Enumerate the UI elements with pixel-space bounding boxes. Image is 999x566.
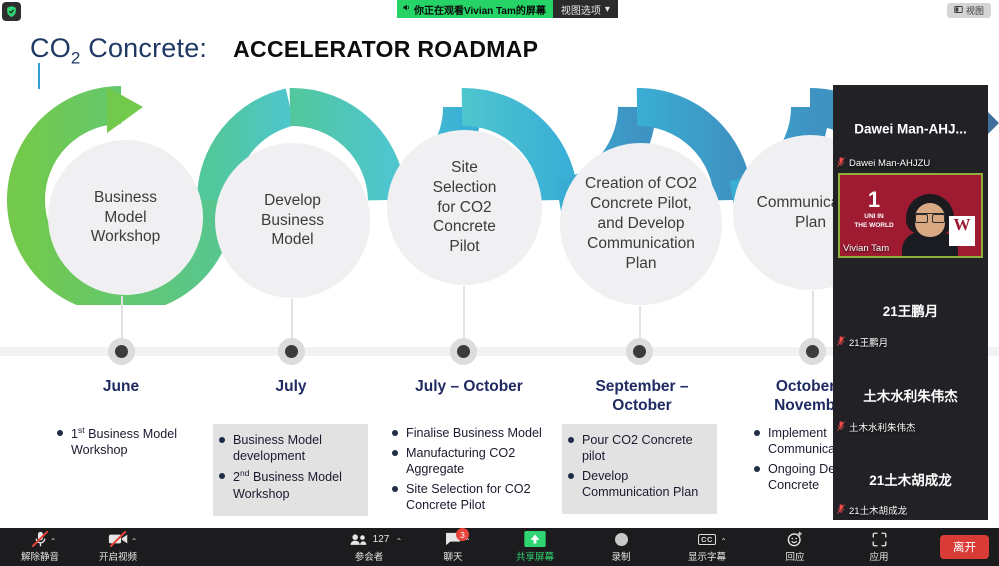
list-item: Manufacturing CO2 Aggregate [390,445,542,477]
view-layout-button[interactable]: 视图 [947,3,991,18]
screen-sharing-indicator: 你正在观看Vivian Tam的屏幕 视图选项 ▾ [397,0,618,18]
participant-tile-3[interactable]: 21王鹏月 21王鹏月 [833,267,988,352]
list-item: Site Selection for CO2 Concrete Pilot [390,481,542,513]
toolbar-start-video-label: 开启视频 [99,549,137,563]
toolbar-reactions-label: 回应 [785,549,804,563]
participant-tile-3-name: 21王鹏月 [833,300,988,320]
sharing-banner: 你正在观看Vivian Tam的屏幕 [397,0,553,18]
list-item: 1st Business Model Workshop [55,425,207,458]
participant-tile-5[interactable]: 21土木胡成龙 21土木胡成龙 [833,437,988,520]
captions-caret-icon[interactable]: ⌃ [720,537,727,546]
toolbar-chat-button[interactable]: 3 ⌃ 聊天 [427,528,479,566]
timeline-dot-2 [278,338,305,365]
toolbar-record-label: 录制 [611,549,630,563]
reactions-icon [787,531,803,547]
participant-tile-1-name: Dawei Man-AHJ... [833,122,988,137]
roadmap-node-4: Creation of CO2 Concrete Pilot, and Deve… [560,143,722,305]
list-item: Finalise Business Model [390,425,542,441]
node-stem-3 [463,286,465,342]
uni-ranking-badge: 1 UNI IN THE WORLD [848,189,900,230]
node-stem-4 [639,306,641,342]
participants-icon: 127 ⌃ [349,531,390,547]
participants-count: 127 [373,534,390,545]
mic-options-caret-icon[interactable]: ⌃ [50,537,57,546]
participant-tile-1[interactable]: Dawei Man-AHJ... Dawei Man-AHJZU [833,85,988,173]
participant-tile-4-namebar: 土木水利朱伟杰 [837,420,916,434]
view-options-label: 视图选项 [561,2,601,17]
toolbar-share-screen-button[interactable]: 共享屏幕 [509,528,561,566]
list-item: Develop Communication Plan [566,468,711,500]
toolbar-reactions-button[interactable]: 回应 [769,528,821,566]
timeline-dot-5 [799,338,826,365]
node-stem-2 [291,299,293,342]
list-item: 2nd Business Model Workshop [217,468,362,501]
participant-tile-4-name: 土木水利朱伟杰 [833,385,988,405]
bullet-column-1: 1st Business Model Workshop [55,425,207,462]
bullet-column-2: Business Model development 2nd Business … [213,424,368,516]
roadmap-node-4-label: Creation of CO2 Concrete Pilot, and Deve… [577,174,705,273]
node-stem-1 [121,296,123,342]
bullet-column-3: Finalise Business Model Manufacturing CO… [390,425,542,518]
timeline-date-3: July – October [379,377,559,396]
participant-tile-5-namebar: 21土木胡成龙 [837,503,907,517]
participants-caret-icon[interactable]: ⌃ [396,537,403,546]
active-speaker-name: Vivian Tam [843,243,889,254]
timeline-date-1: June [31,377,211,396]
mic-off-icon [837,157,845,170]
record-icon [615,531,628,547]
roadmap-node-3-label: Site Selection for CO2 Concrete Pilot [425,158,505,257]
title-main-label: ACCELERATOR ROADMAP [233,36,538,62]
chat-caret-icon[interactable]: ⌃ [464,537,471,546]
collapse-filmstrip-arrow-icon[interactable] [988,112,999,134]
participant-tile-4[interactable]: 土木水利朱伟杰 土木水利朱伟杰 [833,352,988,437]
video-options-caret-icon[interactable]: ⌃ [131,537,138,546]
toolbar-participants-button[interactable]: 127 ⌃ 参会者 [343,528,395,566]
toolbar-record-button[interactable]: 录制 [595,528,647,566]
toolbar-participants-label: 参会者 [355,549,384,563]
roadmap-node-2: Develop Business Model [215,143,370,298]
roadmap-node-3: Site Selection for CO2 Concrete Pilot [387,130,542,285]
toolbar-captions-label: 显示字幕 [688,549,726,563]
participant-tile-1-namebar: Dawei Man-AHJZU [837,157,930,170]
list-item: Pour CO2 Concrete pilot [566,432,711,464]
list-item: Business Model development [217,432,362,464]
mic-off-icon [837,336,845,349]
title-co2-label: CO2 Concrete: [30,33,207,63]
toolbar-unmute-button[interactable]: ⌃ 解除静音 [14,528,66,566]
encryption-shield-icon[interactable] [2,2,21,21]
meeting-toolbar: ⌃ 解除静音 ⌃ 开启视频 127 ⌃ 参会者 3 ⌃ [0,528,999,566]
speaker-icon [402,3,411,15]
toolbar-share-screen-label: 共享屏幕 [516,549,554,563]
bullet-column-4: Pour CO2 Concrete pilot Develop Communic… [562,424,717,514]
rank-line-2: THE WORLD [848,222,900,229]
node-stem-5 [812,291,814,342]
toolbar-unmute-label: 解除静音 [21,549,59,563]
toolbar-captions-button[interactable]: CC ⌃ 显示字幕 [681,528,733,566]
view-options-button[interactable]: 视图选项 ▾ [553,0,618,18]
captions-icon: CC ⌃ [698,531,716,547]
rank-number: 1 [848,189,900,211]
chat-icon: 3 ⌃ [444,531,462,547]
toolbar-start-video-button[interactable]: ⌃ 开启视频 [92,528,144,566]
participant-filmstrip[interactable]: Dawei Man-AHJ... Dawei Man-AHJZU 21王鹏月 2… [833,85,988,520]
view-layout-label: 视图 [966,4,984,17]
roadmap-node-1-label: Business Model Workshop [83,188,169,247]
timeline-dot-3 [450,338,477,365]
page-title: CO2 Concrete:ACCELERATOR ROADMAP [30,33,538,68]
share-screen-icon [524,531,546,547]
timeline-dot-1 [108,338,135,365]
toolbar-apps-label: 应用 [869,549,888,563]
mic-off-icon: ⌃ [33,531,48,547]
roadmap-node-2-label: Develop Business Model [253,191,332,250]
leave-meeting-button[interactable]: 离开 [940,535,989,559]
rank-line-1: UNI IN [848,213,900,220]
toolbar-chat-label: 聊天 [443,549,462,563]
roadmap-node-1: Business Model Workshop [48,140,203,295]
layout-icon [954,5,963,16]
toolbar-apps-button[interactable]: 应用 [853,528,905,566]
active-speaker-video-vivian[interactable]: 1 UNI IN THE WORLD W Vivian Tam [838,173,983,258]
participant-tile-5-name: 21土木胡成龙 [833,469,988,489]
timeline-date-2: July [201,377,381,396]
mic-off-icon [837,504,845,517]
sharing-banner-label: 你正在观看Vivian Tam的屏幕 [414,2,546,17]
timeline-date-4: September – October [552,377,732,416]
timeline-dot-4 [626,338,653,365]
chevron-down-icon: ▾ [605,4,610,15]
university-logo: W [949,216,975,246]
camera-off-icon: ⌃ [108,531,129,547]
participant-tile-3-namebar: 21王鹏月 [837,335,888,349]
zoom-meeting-window: CO2 Concrete:ACCELERATOR ROADMAP [0,0,999,566]
apps-icon [872,531,887,547]
mic-off-icon [837,421,845,434]
